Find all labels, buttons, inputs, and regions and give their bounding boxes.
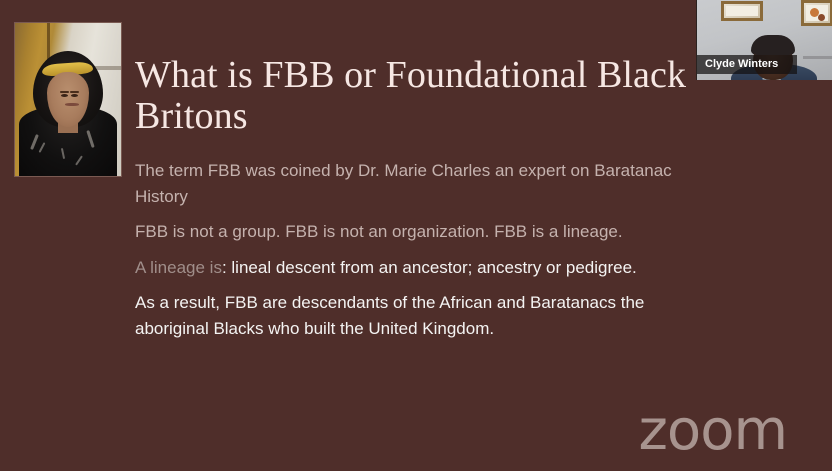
webcam-participant-hair bbox=[751, 35, 795, 55]
webcam-shelf-edge bbox=[803, 56, 832, 59]
participant-video-tile[interactable]: Clyde Winters bbox=[696, 0, 832, 80]
slide-paragraph-4: As a result, FBB are descendants of the … bbox=[135, 290, 715, 341]
slide-portrait-photo bbox=[14, 22, 122, 177]
webcam-picture-mat bbox=[726, 6, 758, 16]
webcam-picture-artwork bbox=[818, 14, 825, 21]
slide-paragraph-1: The term FBB was coined by Dr. Marie Cha… bbox=[135, 158, 715, 209]
slide-paragraph-3: A lineage is: lineal descent from an anc… bbox=[135, 255, 715, 281]
slide-paragraph-3-lead: A lineage is bbox=[135, 258, 222, 277]
slide-title: What is FBB or Foundational Black Briton… bbox=[135, 55, 710, 137]
portrait-eye bbox=[61, 94, 68, 97]
portrait-garment-detail bbox=[38, 142, 45, 153]
slide-paragraph-3-definition: : lineal descent from an ancestor; ances… bbox=[222, 258, 637, 277]
portrait-eyebrow bbox=[60, 91, 69, 93]
portrait-eyebrow bbox=[70, 91, 79, 93]
zoom-meeting-window: What is FBB or Foundational Black Briton… bbox=[0, 0, 832, 471]
zoom-watermark-logo: zoom bbox=[639, 403, 787, 459]
slide-body-text: The term FBB was coined by Dr. Marie Cha… bbox=[135, 158, 715, 341]
slide-paragraph-2: FBB is not a group. FBB is not an organi… bbox=[135, 219, 715, 245]
portrait-garment-detail bbox=[61, 148, 65, 159]
portrait-mouth bbox=[65, 103, 79, 106]
webcam-picture-frame bbox=[721, 1, 763, 21]
webcam-picture-frame bbox=[801, 0, 832, 26]
portrait-eye bbox=[71, 94, 78, 97]
portrait-garment-detail bbox=[75, 155, 83, 165]
participant-name-label: Clyde Winters bbox=[697, 55, 797, 74]
